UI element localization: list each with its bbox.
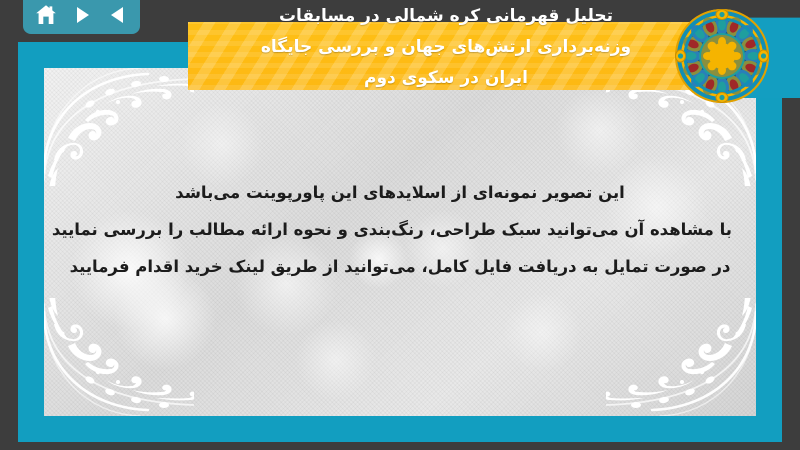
- home-icon: [34, 4, 58, 26]
- persian-medallion-icon: [673, 7, 771, 105]
- next-slide-button[interactable]: [68, 2, 96, 28]
- slide-body-text: این تصویر نمونه‌ای از اسلایدهای این پاور…: [68, 174, 732, 285]
- body-line-1: این تصویر نمونه‌ای از اسلایدهای این پاور…: [68, 174, 732, 211]
- body-line-3: در صورت تمایل به دریافت فایل کامل، می‌تو…: [68, 248, 732, 285]
- triangle-right-icon: [72, 5, 92, 25]
- title-line-1: تحلیل قهرمانی کره شمالی در مسابقات: [188, 1, 704, 32]
- page-title: تحلیل قهرمانی کره شمالی در مسابقات وزنه‌…: [188, 1, 704, 94]
- body-line-2: با مشاهده آن می‌توانید سبک طراحی، رنگ‌بن…: [68, 211, 732, 248]
- slide-viewer-window: این تصویر نمونه‌ای از اسلایدهای این پاور…: [0, 0, 800, 450]
- title-line-3: ایران در سکوی دوم: [188, 63, 704, 94]
- triangle-left-icon: [108, 5, 128, 25]
- previous-slide-button[interactable]: [104, 2, 132, 28]
- home-button[interactable]: [32, 2, 60, 28]
- slide-navigation-bar: [23, 0, 140, 34]
- title-line-2: وزنه‌برداری ارتش‌های جهان و بررسی جایگاه: [188, 32, 704, 63]
- slide-canvas: این تصویر نمونه‌ای از اسلایدهای این پاور…: [18, 42, 782, 442]
